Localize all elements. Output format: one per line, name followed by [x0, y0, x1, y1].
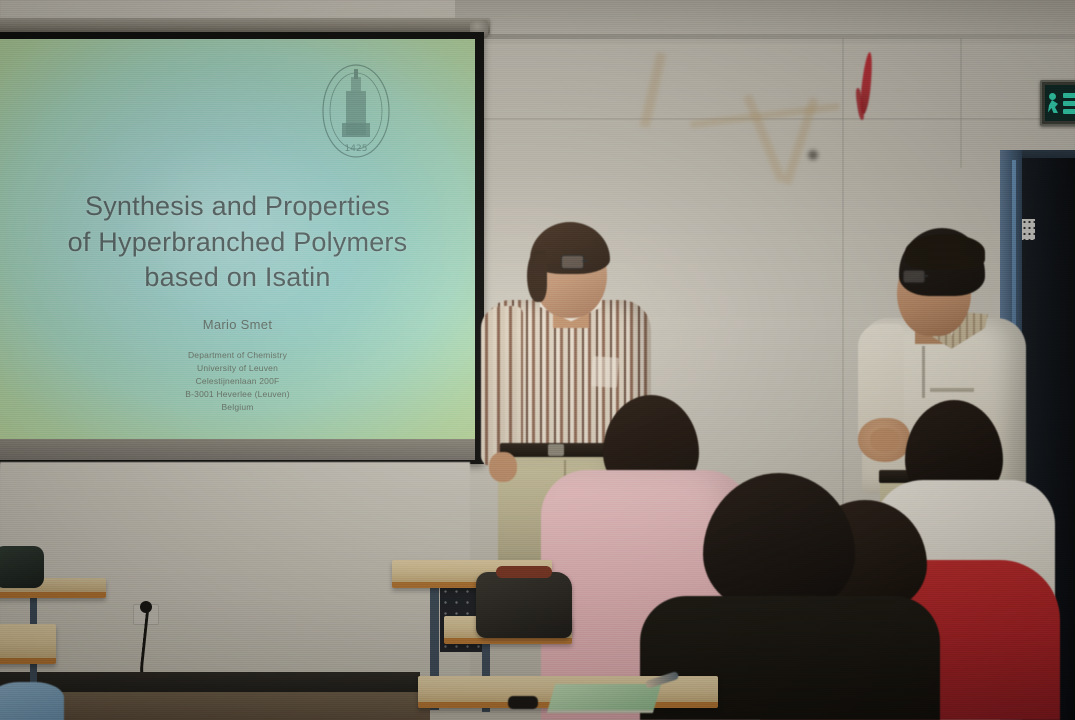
ceiling-edge [455, 34, 1075, 39]
slide-author: Mario Smet [0, 317, 475, 332]
seal-year: 1425 [345, 144, 368, 154]
slide-title-line-3: based on Isatin [0, 260, 475, 296]
lecture-room-photo: 1425 Synthesis and Properties of Hyperbr… [0, 0, 1075, 720]
ku-leuven-seal-logo: 1425 [318, 61, 394, 161]
black-bag-on-desk [476, 572, 572, 638]
projection-screen: 1425 Synthesis and Properties of Hyperbr… [0, 32, 484, 464]
wall-seam [842, 38, 844, 508]
host-hair-front [905, 234, 985, 270]
screen-bottom-bar [0, 439, 475, 460]
slide-title-line-1: Synthesis and Properties [0, 189, 475, 225]
host-polo-pocket [930, 388, 974, 392]
presenter-belt-buckle [548, 444, 564, 456]
presenter-shirt-pocket [591, 356, 619, 388]
presenter-hair-side [527, 250, 547, 302]
presenter-left-arm [481, 306, 523, 466]
host-clasped-hands [858, 418, 910, 462]
baseboard [0, 672, 420, 694]
emergency-exit-sign [1040, 80, 1075, 126]
blue-object [0, 682, 64, 720]
desk-front-left [0, 624, 56, 664]
floor [0, 692, 430, 720]
black-bag-left [0, 546, 44, 588]
wall-spot [808, 150, 818, 160]
slide-title-line-2: of Hyperbranched Polymers [0, 225, 475, 261]
affiliation-line-4: B-3001 Heverlee (Leuven) [0, 388, 475, 401]
exit-sign-panel [1045, 85, 1075, 121]
presenter-hand [489, 452, 517, 482]
host-glasses-icon [903, 270, 951, 282]
door-hinge-plate [1022, 219, 1035, 240]
wall-seam [960, 38, 962, 168]
presenter-glasses-icon [561, 255, 611, 268]
green-notebook [547, 684, 661, 713]
slide-affiliation: Department of Chemistry University of Le… [0, 349, 475, 414]
affiliation-line-5: Belgium [0, 401, 475, 414]
affiliation-line-2: University of Leuven [0, 362, 475, 375]
running-person-icon [1047, 92, 1061, 114]
affiliation-line-3: Celestijnenlaan 200F [0, 375, 475, 388]
affiliation-line-1: Department of Chemistry [0, 349, 475, 362]
exit-sign-text-glyphs [1063, 93, 1075, 114]
projected-slide: 1425 Synthesis and Properties of Hyperbr… [0, 39, 475, 439]
phone [508, 696, 538, 709]
bag-strap [496, 566, 552, 578]
slide-title: Synthesis and Properties of Hyperbranche… [0, 189, 475, 296]
host-polo-placket [922, 346, 925, 398]
